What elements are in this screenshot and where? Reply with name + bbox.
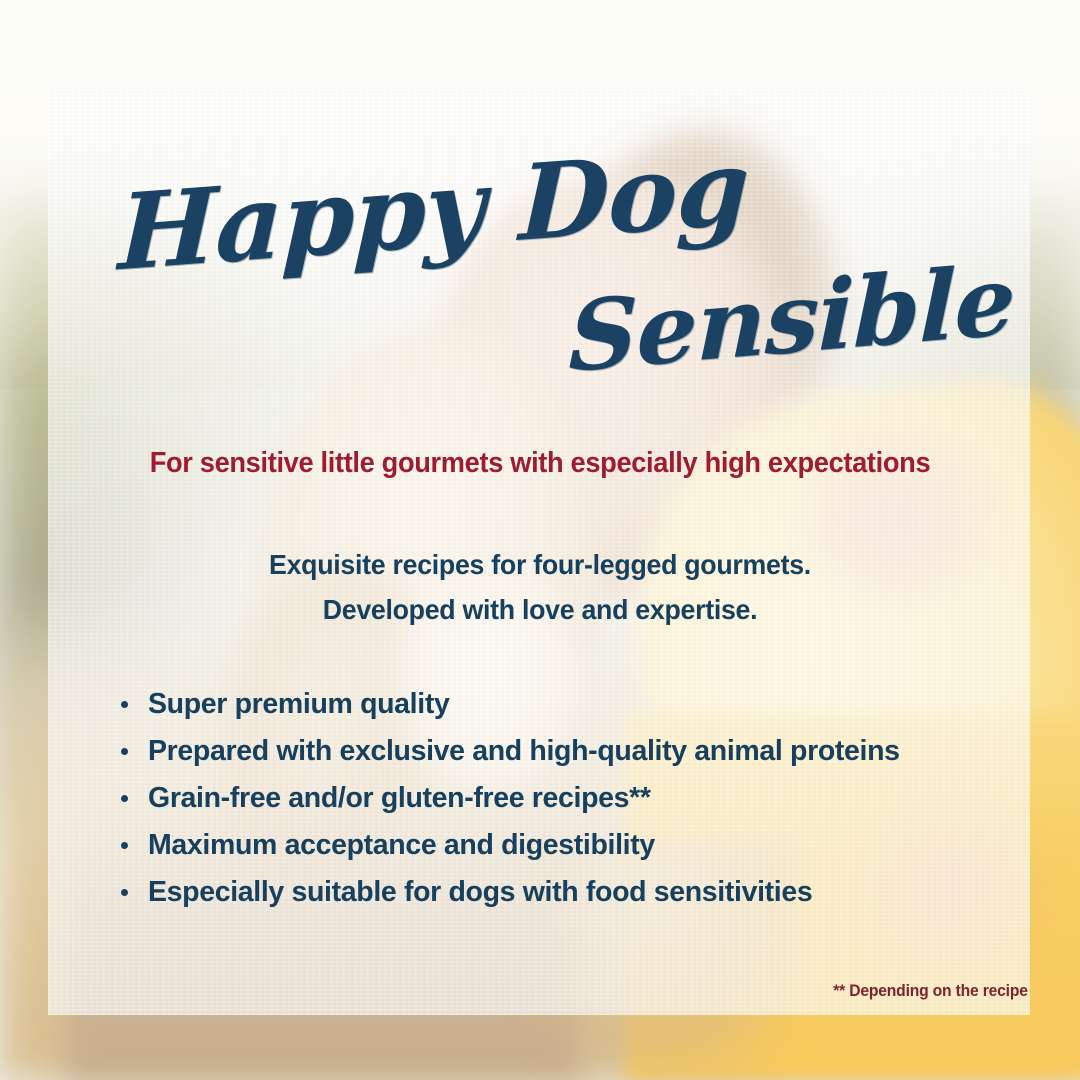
subheading-block: Exquisite recipes for four-legged gourme… — [24, 542, 1055, 633]
product-info-poster: Happy Dog Sensible For sensitive little … — [0, 0, 1080, 1080]
list-item-label: Prepared with exclusive and high-quality… — [148, 735, 900, 767]
poster-content: Happy Dog Sensible For sensitive little … — [0, 0, 1080, 1080]
bullet-dot-icon — [121, 748, 128, 755]
subheading-line-1: Exquisite recipes for four-legged gourme… — [24, 542, 1055, 587]
list-item: Especially suitable for dogs with food s… — [118, 869, 1018, 916]
bullet-dot-icon — [121, 842, 128, 849]
brand-title-line-2: Sensible — [568, 243, 1016, 394]
headline-tagline: For sensitive little gourmets with espec… — [24, 447, 1055, 480]
feature-bullet-list: Super premium quality Prepared with excl… — [118, 681, 1018, 916]
list-item-label: Especially suitable for dogs with food s… — [148, 876, 812, 908]
list-item: Prepared with exclusive and high-quality… — [118, 728, 1018, 775]
bullet-dot-icon — [121, 701, 128, 708]
brand-title-line-1: Happy Dog — [117, 125, 750, 295]
list-item-label: Maximum acceptance and digestibility — [148, 829, 655, 861]
list-item: Grain-free and/or gluten-free recipes** — [118, 775, 1018, 822]
footnote-text: ** Depending on the recipe — [833, 982, 1028, 1001]
list-item: Super premium quality — [118, 681, 1018, 728]
list-item-label: Grain-free and/or gluten-free recipes** — [148, 782, 651, 814]
bullet-dot-icon — [121, 795, 128, 802]
bullet-dot-icon — [121, 889, 128, 896]
list-item: Maximum acceptance and digestibility — [118, 822, 1018, 869]
list-item-label: Super premium quality — [148, 688, 449, 720]
subheading-line-2: Developed with love and expertise. — [24, 587, 1055, 632]
